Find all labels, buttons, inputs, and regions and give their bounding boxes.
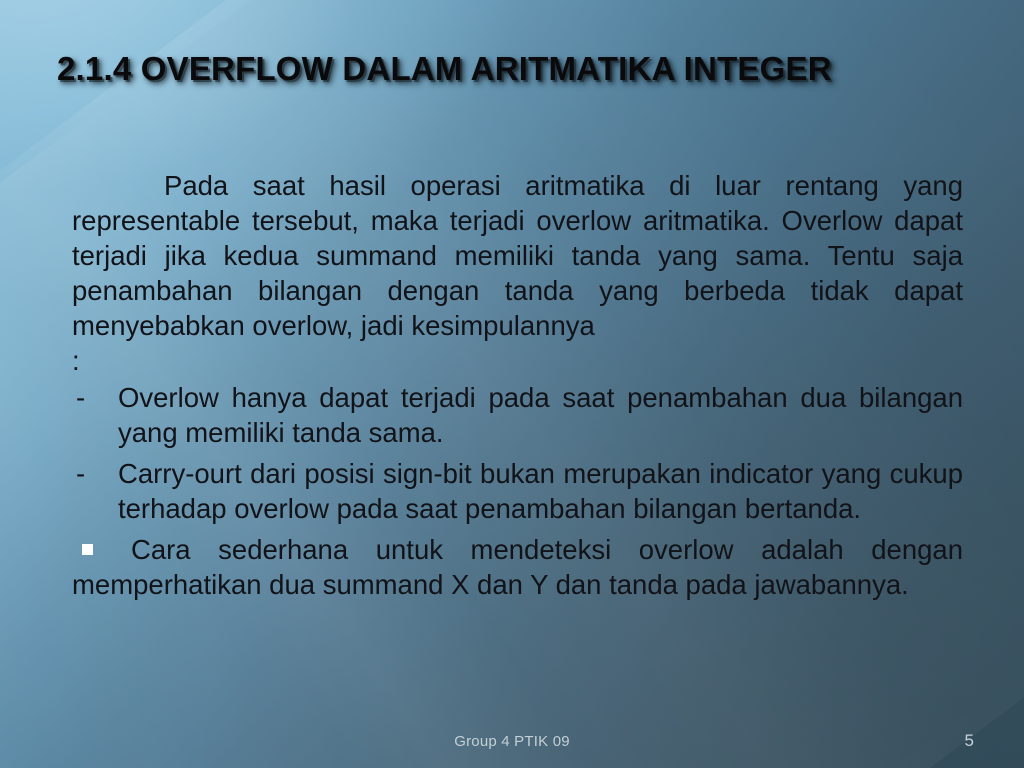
list-item-label: Cara sederhana untuk mendeteksi overlow … xyxy=(72,534,963,600)
dash-bullet-icon: - xyxy=(76,456,85,491)
slide-page-number: 5 xyxy=(965,731,974,751)
intro-paragraph: Pada saat hasil operasi aritmatika di lu… xyxy=(72,168,963,343)
presentation-slide: 2.1.4 OVERFLOW DALAM ARITMATIKA INTEGER … xyxy=(0,0,1024,768)
colon-line: : xyxy=(72,343,963,378)
square-bullet-icon xyxy=(82,544,93,555)
list-item-label: Overlow hanya dapat terjadi pada saat pe… xyxy=(118,382,963,448)
slide-body: Pada saat hasil operasi aritmatika di lu… xyxy=(72,168,963,602)
list-item: - Carry-ourt dari posisi sign-bit bukan … xyxy=(72,456,963,526)
list-item: - Overlow hanya dapat terjadi pada saat … xyxy=(72,380,963,450)
list-item: Cara sederhana untuk mendeteksi overlow … xyxy=(72,532,963,602)
slide-content: 2.1.4 OVERFLOW DALAM ARITMATIKA INTEGER … xyxy=(0,0,1024,768)
slide-footer-label: Group 4 PTIK 09 xyxy=(0,733,1024,750)
dash-bullet-icon: - xyxy=(76,380,85,415)
slide-title: 2.1.4 OVERFLOW DALAM ARITMATIKA INTEGER xyxy=(57,50,977,88)
list-item-label: Carry-ourt dari posisi sign-bit bukan me… xyxy=(118,458,963,524)
